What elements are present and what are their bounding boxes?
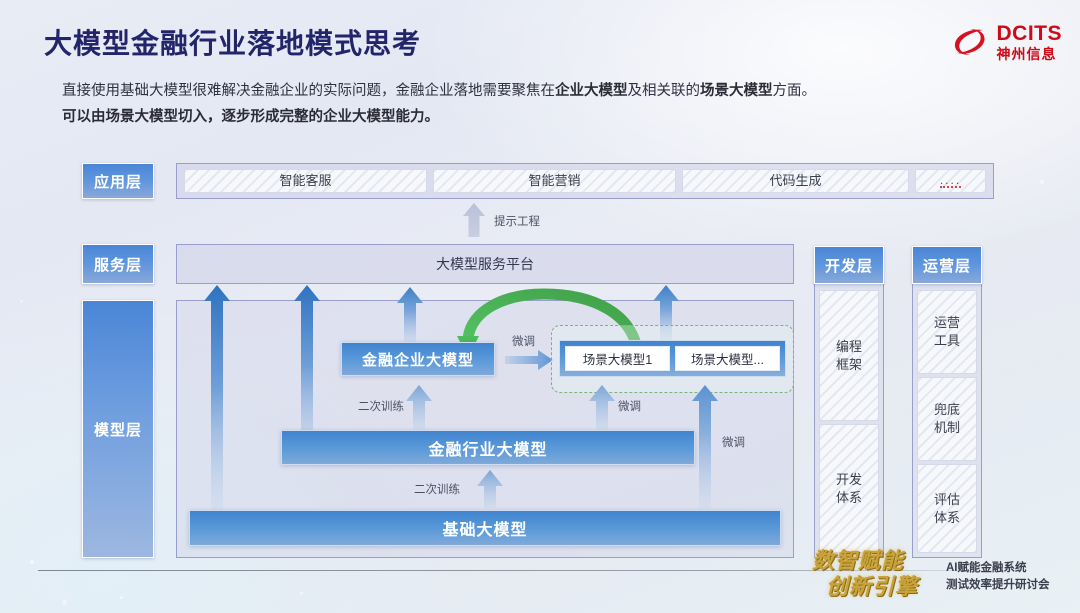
- layer-tag-application: 应用层: [82, 163, 154, 199]
- layer-tag-development: 开发层: [814, 246, 884, 284]
- architecture-diagram: 应用层 服务层 模型层 开发层 运营层 智能客服 智能营销 代码生成 .... …: [0, 0, 1080, 613]
- app-box-more[interactable]: ....: [915, 169, 986, 193]
- scene-model-chip-1[interactable]: 场景大模型1: [565, 346, 670, 371]
- app-box-smart-service[interactable]: 智能客服: [184, 169, 427, 193]
- ops-item-operation-tools[interactable]: 运营 工具: [917, 290, 977, 374]
- scene-model-group: 场景大模型1 场景大模型...: [559, 340, 786, 377]
- dev-item-development-system[interactable]: 开发 体系: [819, 424, 879, 553]
- model-box-industry[interactable]: 金融行业大模型: [281, 430, 695, 465]
- arrow-finetune-2: [588, 385, 616, 431]
- arrow-finetune-horizontal: [505, 350, 553, 370]
- layer-tag-service: 服务层: [82, 244, 154, 284]
- label-secondary-training-1: 二次训练: [358, 398, 404, 414]
- arrow-secondary-training-2: [476, 470, 504, 508]
- label-finetune-3: 微调: [722, 434, 745, 450]
- event-logo-line-2: 创新引擎: [826, 574, 942, 600]
- ops-item-fallback-mechanism[interactable]: 兜底 机制: [917, 377, 977, 461]
- arrow-finetune-3: [691, 385, 719, 509]
- model-box-foundation[interactable]: 基础大模型: [189, 510, 781, 546]
- app-box-smart-marketing[interactable]: 智能营销: [433, 169, 676, 193]
- app-box-more-label: ....: [940, 175, 961, 188]
- event-title-line-2: 测试效率提升研讨会: [946, 577, 1050, 594]
- layer-tag-operation: 运营层: [912, 246, 982, 284]
- app-box-code-generation[interactable]: 代码生成: [682, 169, 909, 193]
- label-secondary-training-2: 二次训练: [414, 481, 460, 497]
- arrow-model-to-service-3: [396, 287, 424, 349]
- arrow-model-to-service-1: [203, 285, 231, 513]
- model-box-enterprise[interactable]: 金融企业大模型: [341, 342, 495, 376]
- arrow-secondary-training-1: [405, 385, 433, 431]
- label-prompt-engineering: 提示工程: [494, 213, 540, 229]
- ops-item-evaluation-system[interactable]: 评估 体系: [917, 464, 977, 553]
- event-logo: 数智赋能 创新引擎: [812, 548, 942, 604]
- scene-model-chip-2[interactable]: 场景大模型...: [675, 346, 780, 371]
- arrow-prompt-engineering: [462, 203, 486, 237]
- event-logo-line-1: 数智赋能: [812, 548, 942, 574]
- label-finetune-1: 微调: [512, 333, 535, 349]
- event-title-line-1: AI赋能金融系统: [946, 560, 1050, 577]
- layer-tag-model: 模型层: [82, 300, 154, 558]
- event-title: AI赋能金融系统 测试效率提升研讨会: [946, 560, 1050, 594]
- service-platform-label: 大模型服务平台: [176, 244, 794, 284]
- dev-item-programming-framework[interactable]: 编程 框架: [819, 290, 879, 421]
- label-finetune-2: 微调: [618, 398, 641, 414]
